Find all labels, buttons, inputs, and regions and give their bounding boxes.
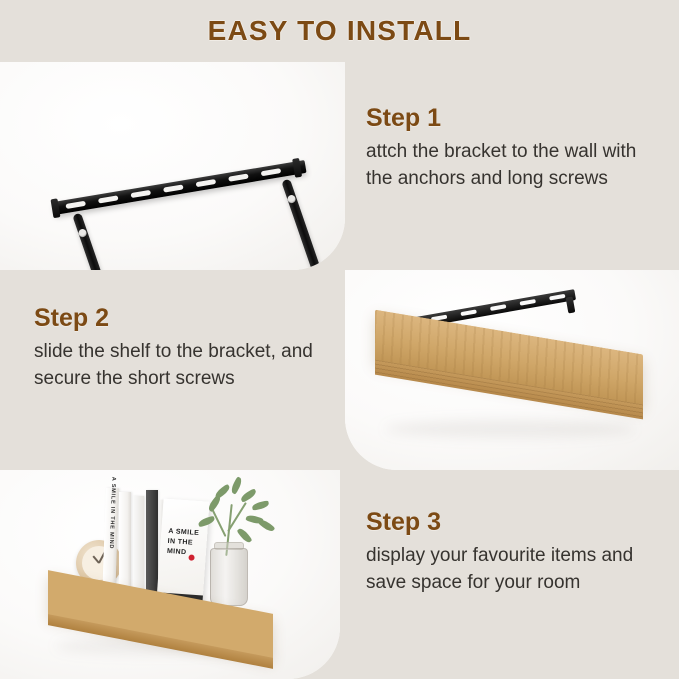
- shelf-bracket-slot: [460, 309, 476, 316]
- shelf-scene: [345, 270, 679, 470]
- styled-shelf-scene: A SMILE IN THE MIND A S: [0, 470, 340, 679]
- step-3-heading: Step 3: [366, 508, 666, 537]
- rod-screw-left: [77, 228, 87, 238]
- bracket-scene: [0, 62, 345, 270]
- shelf-shadow: [385, 420, 635, 438]
- rail-slot: [98, 195, 119, 203]
- step-2-body: slide the shelf to the bracket, and secu…: [34, 339, 334, 393]
- photo-panel-step-2: [345, 270, 679, 470]
- text-block-step-2: Step 2 slide the shelf to the bracket, a…: [34, 304, 334, 393]
- text-block-step-3: Step 3 display your favourite items and …: [366, 508, 666, 597]
- step-1-heading: Step 1: [366, 104, 666, 133]
- page-title: EASY TO INSTALL: [208, 15, 472, 47]
- step-2-heading: Step 2: [34, 304, 334, 333]
- book-spine-label: A SMILE IN THE MIND: [107, 477, 116, 550]
- rail-slot: [65, 201, 86, 209]
- title-bar: EASY TO INSTALL: [0, 0, 679, 62]
- rail-slot: [228, 174, 249, 182]
- glass-vase: [210, 548, 248, 606]
- book-front-title: A SMILE IN THE MIND: [167, 527, 200, 560]
- shelf-bracket-slot: [490, 304, 506, 311]
- rail-slot: [196, 179, 217, 187]
- shelf-bracket-slot: [549, 294, 565, 301]
- rod-screw-right: [286, 194, 296, 204]
- rail-slot: [131, 190, 152, 198]
- book-front-cover: A SMILE IN THE MIND: [156, 499, 209, 604]
- book-accent-dot: [188, 554, 194, 560]
- rail-cap-right: [292, 158, 302, 178]
- rail-slot: [163, 184, 184, 192]
- shelf-bracket-slot: [520, 299, 536, 306]
- book-spine: [133, 496, 144, 600]
- infographic-root: EASY TO INSTALL: [0, 0, 679, 679]
- rail-slot: [261, 168, 282, 176]
- step-1-body: attch the bracket to the wall with the a…: [366, 139, 666, 193]
- photo-panel-step-1: [0, 62, 345, 270]
- step-3-body: display your favourite items and save sp…: [366, 543, 666, 597]
- book-spine-dark: [146, 490, 158, 600]
- text-block-step-1: Step 1 attch the bracket to the wall wit…: [366, 104, 666, 193]
- photo-panel-step-3: A SMILE IN THE MIND A S: [0, 470, 340, 679]
